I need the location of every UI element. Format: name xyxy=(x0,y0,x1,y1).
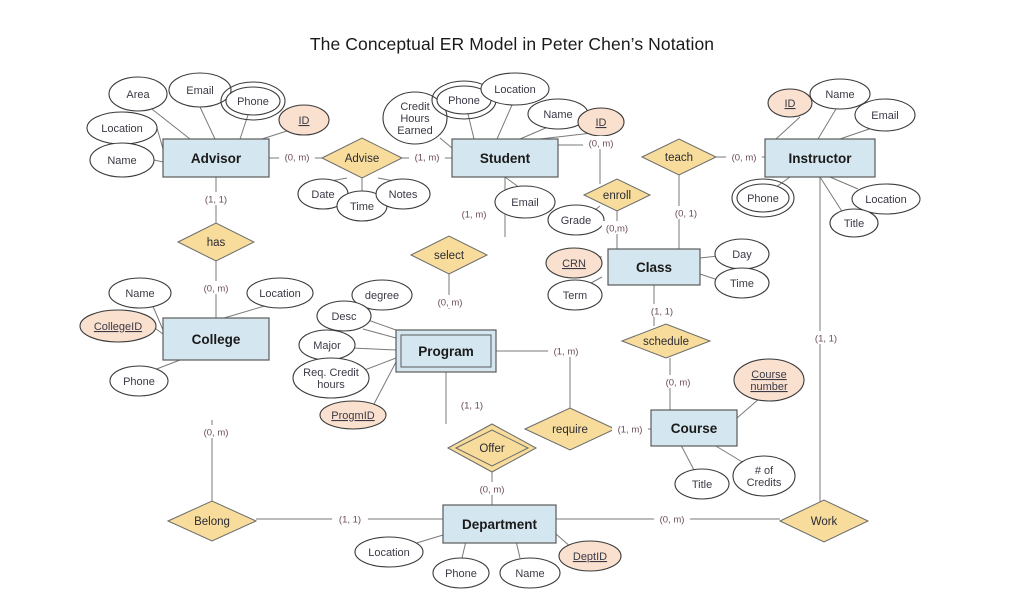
connector-line xyxy=(368,320,396,330)
attribute-phone[interactable]: Phone xyxy=(732,179,794,217)
cardinality-text: (0, m) xyxy=(204,284,229,295)
relationship-label: Advise xyxy=(345,153,380,165)
attribute-label: Phone xyxy=(237,96,269,108)
attribute-label: Name xyxy=(125,288,154,300)
attribute-label: Name xyxy=(515,568,544,580)
connector-line xyxy=(262,130,290,139)
cardinality-text: (0, 1) xyxy=(675,209,697,220)
attribute-label: ID xyxy=(596,117,607,129)
cardinality-text: (1, 1) xyxy=(339,515,361,526)
cardinality-label: (0, m) xyxy=(660,375,696,389)
connector-line xyxy=(154,360,180,370)
attribute-label: Location xyxy=(368,547,410,559)
relationship-label: schedule xyxy=(643,336,689,348)
cardinality-label: (0, m) xyxy=(198,425,234,439)
entity-advisor[interactable]: Advisor xyxy=(163,139,269,177)
relationship-select[interactable]: select xyxy=(411,236,487,274)
attribute-label: Notes xyxy=(389,189,418,201)
attribute-label: Term xyxy=(563,290,587,302)
attribute-deptid[interactable]: DeptID xyxy=(559,541,621,571)
entity-label: Advisor xyxy=(191,151,242,166)
attribute-id[interactable]: ID xyxy=(279,105,329,135)
attribute-label: Time xyxy=(730,278,754,290)
entity-college[interactable]: College xyxy=(163,318,269,360)
cardinality-text: (1, 1) xyxy=(651,307,673,318)
attribute-major[interactable]: Major xyxy=(299,330,355,360)
cardinality-text: (0, m) xyxy=(589,139,614,150)
connector-line xyxy=(440,138,452,148)
relationship-has[interactable]: has xyxy=(178,223,254,261)
attribute-label: Title xyxy=(844,218,864,230)
relationship-work[interactable]: Work xyxy=(780,500,868,542)
attribute-email[interactable]: Email xyxy=(855,99,915,131)
attribute-title[interactable]: Title xyxy=(830,209,878,237)
attribute-of-credits[interactable]: # ofCredits xyxy=(733,456,795,496)
entity-label: Program xyxy=(418,344,474,359)
attribute-location[interactable]: Location xyxy=(481,73,549,105)
attribute-location[interactable]: Location xyxy=(247,278,313,308)
attribute-phone[interactable]: Phone xyxy=(433,558,489,588)
attribute-label: Desc xyxy=(331,311,357,323)
cardinality-text: (0, m) xyxy=(285,153,310,164)
attribute-day[interactable]: Day xyxy=(715,239,769,269)
attribute-phone[interactable]: Phone xyxy=(110,366,168,396)
connector-line xyxy=(818,109,836,139)
cardinality-label: (0, 1) xyxy=(668,206,704,220)
cardinality-text: (1, 1) xyxy=(461,401,483,412)
cardinality-text: (0,m) xyxy=(606,224,628,235)
entity-department[interactable]: Department xyxy=(443,505,556,543)
attribute-label: Name xyxy=(543,109,572,121)
relationship-label: Work xyxy=(811,516,838,528)
attribute-label: Grade xyxy=(561,215,592,227)
attribute-id[interactable]: ID xyxy=(578,108,624,136)
cardinality-label: (0, m) xyxy=(726,150,762,164)
attribute-time[interactable]: Time xyxy=(715,268,769,298)
attribute-crn[interactable]: CRN xyxy=(546,248,602,278)
attribute-label: DeptID xyxy=(573,551,607,563)
attribute-label: ProgmID xyxy=(331,410,374,422)
entity-label: College xyxy=(192,332,241,347)
attribute-collegeid[interactable]: CollegeID xyxy=(80,310,156,342)
relationship-teach[interactable]: teach xyxy=(642,139,716,175)
attribute-label: Location xyxy=(865,194,907,206)
attribute-location[interactable]: Location xyxy=(355,537,423,567)
cardinality-text: (1, m) xyxy=(415,153,440,164)
attribute-label: Date xyxy=(311,189,334,201)
connector-line xyxy=(362,358,396,371)
entity-instructor[interactable]: Instructor xyxy=(765,139,875,177)
relationship-label: Belong xyxy=(194,516,230,528)
attribute-area[interactable]: Area xyxy=(109,77,167,111)
connector-line xyxy=(154,160,163,162)
relationship-label: select xyxy=(434,250,465,262)
entity-label: Class xyxy=(636,260,672,275)
cardinality-text: (0, m) xyxy=(732,153,757,164)
relationship-belong[interactable]: Belong xyxy=(168,501,256,541)
cardinality-text: (1, m) xyxy=(554,347,579,358)
connector-line xyxy=(374,362,396,404)
cardinality-text: (0, m) xyxy=(666,378,691,389)
attribute-label: Title xyxy=(692,479,712,491)
attribute-label: Phone xyxy=(123,376,155,388)
entity-label: Student xyxy=(480,151,531,166)
attribute-label: ID xyxy=(785,98,796,110)
attribute-progmid[interactable]: ProgmID xyxy=(320,401,386,429)
relationship-label: has xyxy=(207,237,226,249)
attribute-label: Phone xyxy=(445,568,477,580)
entity-course[interactable]: Course xyxy=(651,410,737,446)
attribute-label: CRN xyxy=(562,258,586,270)
attribute-label: Phone xyxy=(747,193,779,205)
relationship-label: Offer xyxy=(479,443,505,455)
relationship-advise[interactable]: Advise xyxy=(322,138,402,178)
cardinality-text: (0, m) xyxy=(438,298,463,309)
cardinality-label: (1, 1) xyxy=(332,512,368,526)
entity-student[interactable]: Student xyxy=(452,139,558,177)
attribute-label: CreditHoursEarned xyxy=(397,101,432,137)
connector-line xyxy=(830,177,858,189)
connector-line xyxy=(352,348,396,350)
cardinality-label: (1, 1) xyxy=(454,398,490,412)
attribute-email[interactable]: Email xyxy=(495,186,555,218)
attribute-label: Location xyxy=(259,288,301,300)
attribute-req-credit-hours[interactable]: Req. Credithours xyxy=(293,358,369,398)
cardinality-text: (1, 1) xyxy=(205,195,227,206)
attribute-label: Day xyxy=(732,249,752,261)
attribute-location[interactable]: Location xyxy=(87,112,157,144)
cardinality-text: (1, 1) xyxy=(815,334,837,345)
attribute-name[interactable]: Name xyxy=(500,558,560,588)
attribute-id[interactable]: ID xyxy=(768,89,812,117)
attribute-label: ID xyxy=(299,115,310,127)
attribute-label: Email xyxy=(511,197,539,209)
er-diagram-canvas: The Conceptual ER Model in Peter Chen’s … xyxy=(0,0,1024,592)
er-diagram-svg: Adviseteachenrollhasselectschedulerequir… xyxy=(0,0,1024,592)
entity-label: Instructor xyxy=(788,151,852,166)
connector-line xyxy=(820,177,843,213)
cardinality-text: (0, m) xyxy=(480,485,505,496)
cardinality-label: (1, m) xyxy=(409,150,445,164)
connector-line xyxy=(520,127,548,139)
entity-label: Course xyxy=(671,421,718,436)
attribute-label: Name xyxy=(825,89,854,101)
cardinality-text: (0, m) xyxy=(660,515,685,526)
attribute-term[interactable]: Term xyxy=(548,280,602,310)
cardinality-label: (0, m) xyxy=(474,482,510,496)
entity-program[interactable]: Program xyxy=(396,330,496,372)
relationship-label: teach xyxy=(665,152,693,164)
attribute-label: Phone xyxy=(448,95,480,107)
attribute-label: CollegeID xyxy=(94,321,142,333)
relationship-enroll[interactable]: enroll xyxy=(584,179,650,211)
connector-line xyxy=(497,105,512,139)
attribute-label: Location xyxy=(101,123,143,135)
attribute-notes[interactable]: Notes xyxy=(376,179,430,209)
attribute-label: Name xyxy=(107,155,136,167)
cardinality-label: (0, m) xyxy=(198,281,234,295)
attribute-label: Coursenumber xyxy=(750,369,788,393)
cardinality-label: (0, m) xyxy=(432,295,468,309)
connector-line xyxy=(157,128,163,149)
entity-class[interactable]: Class xyxy=(608,249,700,285)
cardinality-label: (1, 1) xyxy=(198,192,234,206)
cardinality-label: (0, m) xyxy=(654,512,690,526)
connector-line xyxy=(737,398,760,418)
attribute-name[interactable]: Name xyxy=(109,278,171,308)
cardinality-label: (1, 1) xyxy=(808,331,844,345)
relationship-schedule[interactable]: schedule xyxy=(622,324,710,358)
connector-line xyxy=(840,128,872,139)
cardinality-label: (0,m) xyxy=(602,221,633,235)
entity-label: Department xyxy=(462,517,538,532)
cardinality-text: (1, m) xyxy=(462,210,487,221)
attribute-label: Location xyxy=(494,84,536,96)
cardinality-text: (0, m) xyxy=(204,428,229,439)
cardinality-text: (1, m) xyxy=(618,425,643,436)
relationship-offer[interactable]: Offer xyxy=(448,424,536,472)
connector-line xyxy=(200,107,215,139)
cardinality-label: (0, m) xyxy=(583,136,619,150)
attribute-label: Email xyxy=(186,85,214,97)
attribute-label: Area xyxy=(126,89,150,101)
relationship-label: require xyxy=(552,424,588,436)
cardinality-label: (1, m) xyxy=(456,207,492,221)
attribute-course-number[interactable]: Coursenumber xyxy=(734,359,804,401)
connector-line xyxy=(224,305,268,318)
attribute-phone[interactable]: Phone xyxy=(221,82,285,120)
attribute-label: Email xyxy=(871,110,899,122)
relationship-require[interactable]: require xyxy=(525,408,615,450)
attribute-label: Time xyxy=(350,201,374,213)
cardinality-label: (1, m) xyxy=(548,344,584,358)
cardinality-label: (1, m) xyxy=(612,422,648,436)
attribute-label: Major xyxy=(313,340,341,352)
attribute-label: degree xyxy=(365,290,399,302)
relationship-label: enroll xyxy=(603,190,631,202)
cardinality-label: (1, 1) xyxy=(644,304,680,318)
attribute-grade[interactable]: Grade xyxy=(548,205,604,235)
attribute-name[interactable]: Name xyxy=(810,79,870,109)
cardinality-label: (0, m) xyxy=(279,150,315,164)
attribute-email[interactable]: Email xyxy=(169,73,231,107)
connector-line xyxy=(363,329,396,338)
attribute-name[interactable]: Name xyxy=(90,143,154,177)
attribute-desc[interactable]: Desc xyxy=(317,301,371,331)
attribute-title[interactable]: Title xyxy=(675,469,729,499)
